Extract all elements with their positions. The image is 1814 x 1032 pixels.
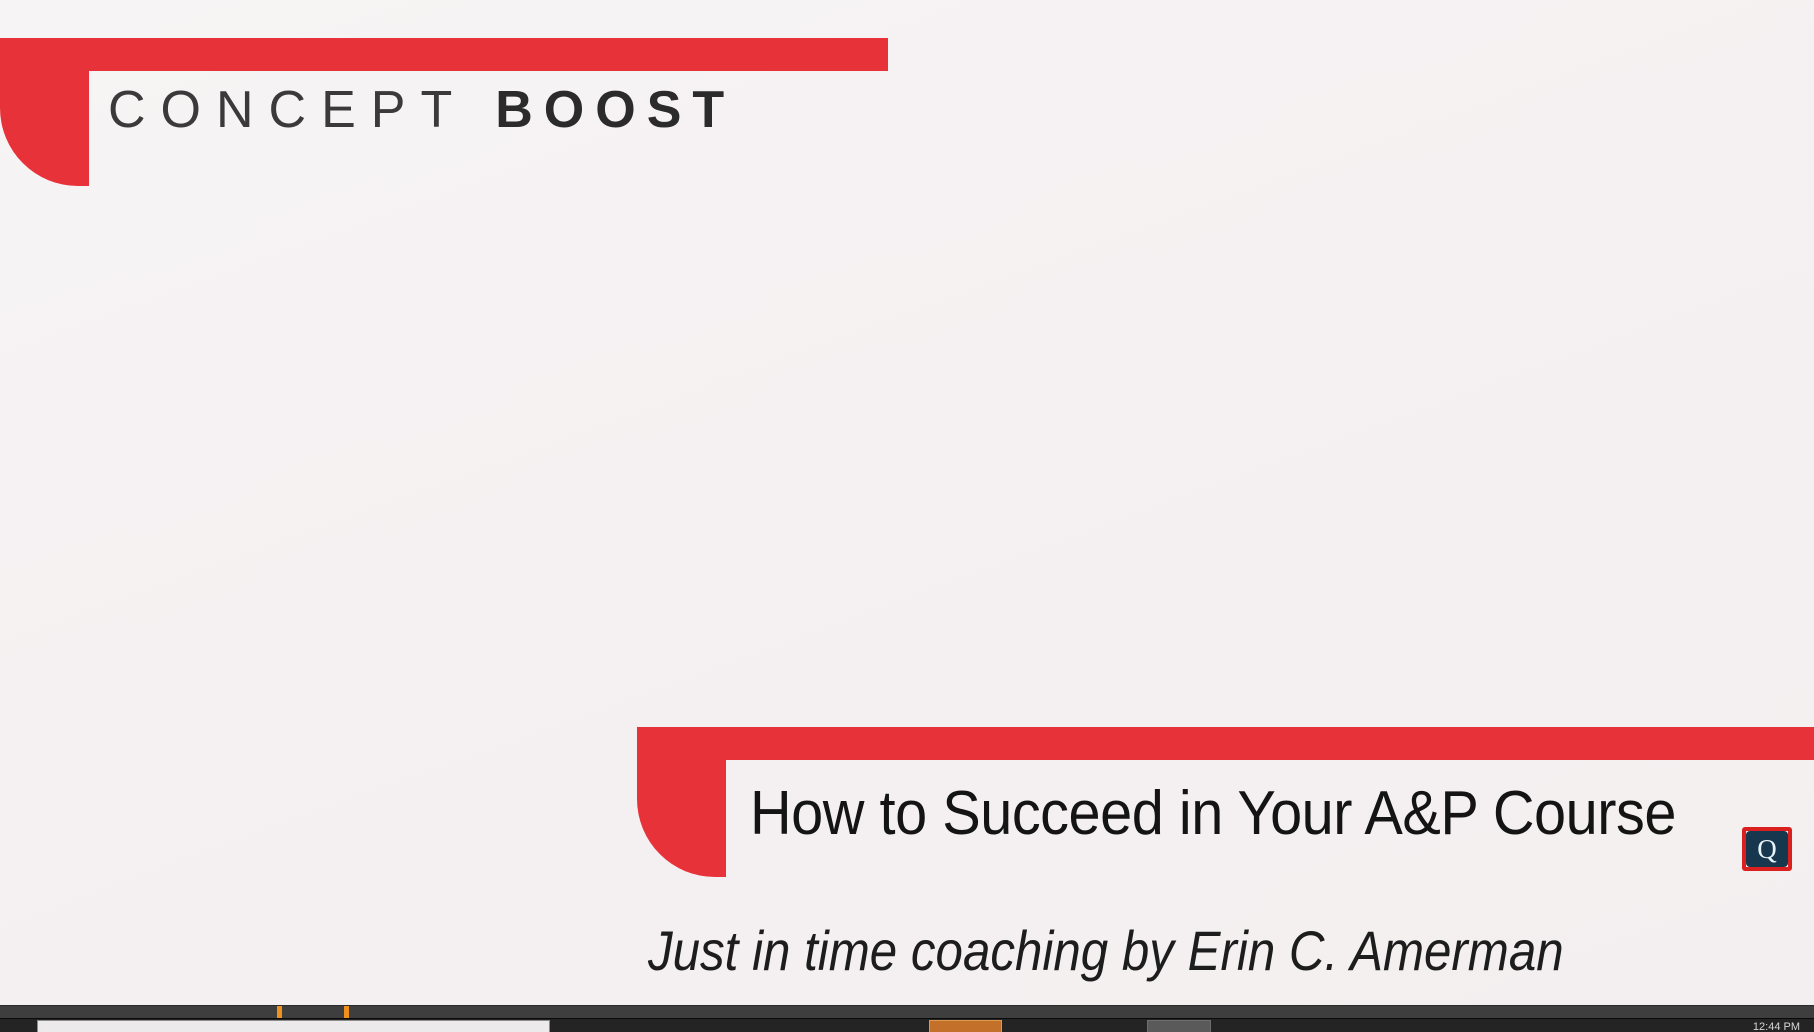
- system-clock[interactable]: 12:44 PM: [1753, 1021, 1800, 1032]
- scrubber-strip[interactable]: [0, 1005, 1814, 1018]
- scrub-mark-1[interactable]: [277, 1006, 282, 1018]
- brand-word-light: CONCEPT: [108, 80, 467, 140]
- taskbar[interactable]: 12:44 PM: [0, 1018, 1814, 1032]
- scrub-mark-2[interactable]: [344, 1006, 349, 1018]
- brand-bracket-bar: [0, 38, 888, 71]
- title-bracket-bar: [637, 727, 1814, 760]
- slide-subtitle: Just in time coaching by Erin C. Amerman: [648, 918, 1564, 983]
- q-icon: Q: [1757, 836, 1777, 863]
- q-badge-button[interactable]: Q: [1746, 831, 1788, 867]
- title-bracket-stem: [637, 727, 726, 877]
- presentation-slide[interactable]: CONCEPT BOOST How to Succeed in Your A&P…: [0, 0, 1814, 1005]
- slide-title: How to Succeed in Your A&P Course: [750, 778, 1676, 849]
- taskbar-item-secondary[interactable]: [1147, 1020, 1211, 1032]
- brand-bracket-stem: [0, 38, 89, 186]
- window-preview-panel[interactable]: [37, 1020, 550, 1032]
- brand-word-bold: BOOST: [495, 80, 735, 140]
- system-chrome: 12:44 PM: [0, 1005, 1814, 1032]
- screen: CONCEPT BOOST How to Succeed in Your A&P…: [0, 0, 1814, 1032]
- brand-wordmark: CONCEPT BOOST: [108, 78, 735, 142]
- taskbar-item-active[interactable]: [929, 1020, 1002, 1032]
